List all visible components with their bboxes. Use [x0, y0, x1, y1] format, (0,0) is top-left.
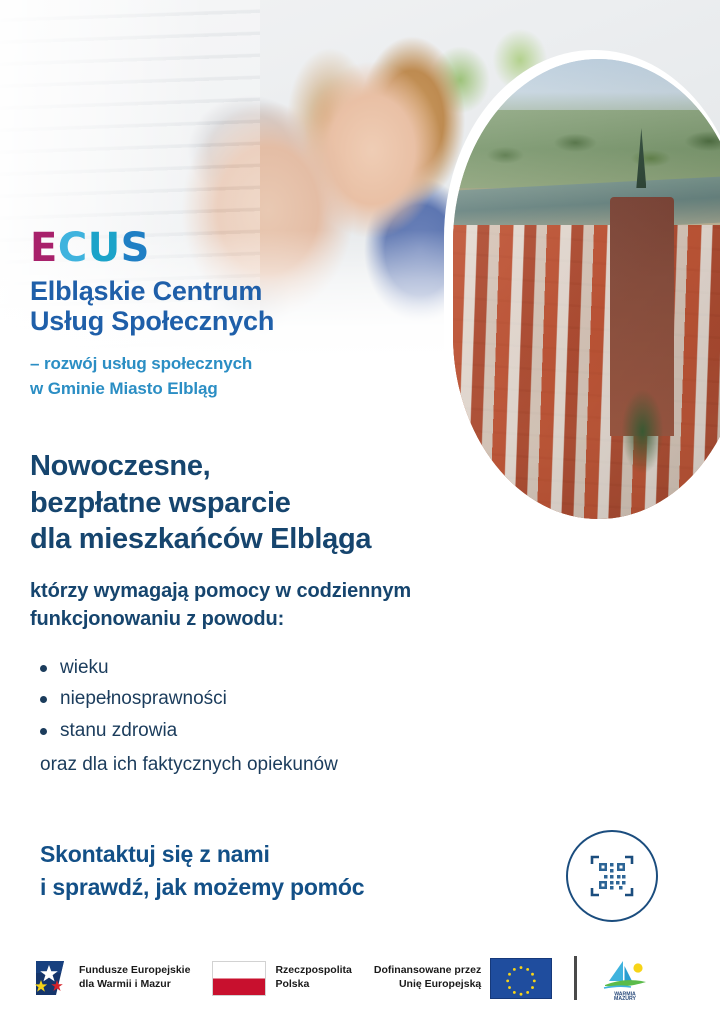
qr-code-button[interactable] [566, 830, 658, 922]
european-union-block: Dofinansowane przez Unię Europejską [374, 958, 552, 999]
org-name-line1: Elbląskie Centrum [30, 276, 274, 306]
project-subtitle: – rozwój usług społecznych w Gminie Mias… [30, 352, 252, 401]
logo-letter-s: S [121, 228, 150, 268]
list-item: niepełnosprawności [32, 683, 227, 714]
fe-label-line2: dla Warmii i Mazur [79, 978, 190, 992]
aerial-city-photo [453, 59, 720, 519]
rzeczpospolita-polska-block: Rzeczpospolita Polska [212, 961, 351, 996]
org-name-line2: Usług Społecznych [30, 306, 274, 336]
footer-divider [574, 956, 577, 1000]
fundusze-europejskie-logo [30, 955, 70, 1001]
warmia-mazury-block: WARMIA MAZURY [599, 955, 651, 1001]
funding-footer: Fundusze Europejskie dla Warmii i Mazur … [0, 945, 720, 1011]
contact-line2: i sprawdź, jak możemy pomóc [40, 871, 364, 904]
eu-label: Dofinansowane przez Unię Europejską [374, 964, 481, 992]
eu-label-line2: Unię Europejską [374, 978, 481, 992]
pl-label-line1: Rzeczpospolita [275, 964, 351, 978]
lead-paragraph: którzy wymagają pomocy w codziennym funk… [30, 578, 411, 633]
headline-line2: bezpłatne wsparcie [30, 485, 371, 522]
main-headline: Nowoczesne, bezpłatne wsparcie dla miesz… [30, 448, 371, 558]
poland-flag-icon [212, 961, 266, 996]
logo-letter-e: E [30, 228, 58, 268]
contact-line1: Skontaktuj się z nami [40, 838, 364, 871]
european-union-flag-icon [490, 958, 552, 999]
list-item: stanu zdrowia [32, 715, 227, 746]
list-item: wieku [32, 652, 227, 683]
logo-letter-c: C [58, 228, 88, 268]
ecus-logo-block: ECUS Elbląskie Centrum Usług Społecznych [30, 228, 274, 336]
pl-label: Rzeczpospolita Polska [275, 964, 351, 992]
subtitle-line2: w Gminie Miasto Elbląg [30, 377, 252, 402]
headline-line3: dla mieszkańców Elbląga [30, 521, 371, 558]
qr-code-icon [588, 852, 636, 900]
photo-shading [453, 59, 720, 519]
wm-text-line2: MAZURY [614, 996, 637, 1001]
criteria-list: wieku niepełnosprawności stanu zdrowia [32, 652, 227, 746]
lead-line1: którzy wymagają pomocy w codziennym [30, 578, 411, 606]
headline-line1: Nowoczesne, [30, 448, 371, 485]
city-photo-frame [444, 50, 720, 528]
caregivers-note: oraz dla ich faktycznych opiekunów [40, 752, 338, 779]
fe-label-line1: Fundusze Europejskie [79, 964, 190, 978]
eu-label-line1: Dofinansowane przez [374, 964, 481, 978]
organization-name: Elbląskie Centrum Usług Społecznych [30, 276, 274, 336]
subtitle-line1: – rozwój usług społecznych [30, 352, 252, 377]
contact-call-to-action: Skontaktuj się z nami i sprawdź, jak moż… [40, 838, 364, 905]
ecus-wordmark: ECUS [30, 228, 274, 268]
fe-label: Fundusze Europejskie dla Warmii i Mazur [79, 964, 190, 992]
pl-label-line2: Polska [275, 978, 351, 992]
lead-line2: funkcjonowaniu z powodu: [30, 606, 411, 634]
fundusze-europejskie-block: Fundusze Europejskie dla Warmii i Mazur [30, 955, 190, 1001]
warmia-mazury-logo: WARMIA MAZURY [599, 955, 651, 1001]
logo-letter-u: U [88, 228, 121, 268]
